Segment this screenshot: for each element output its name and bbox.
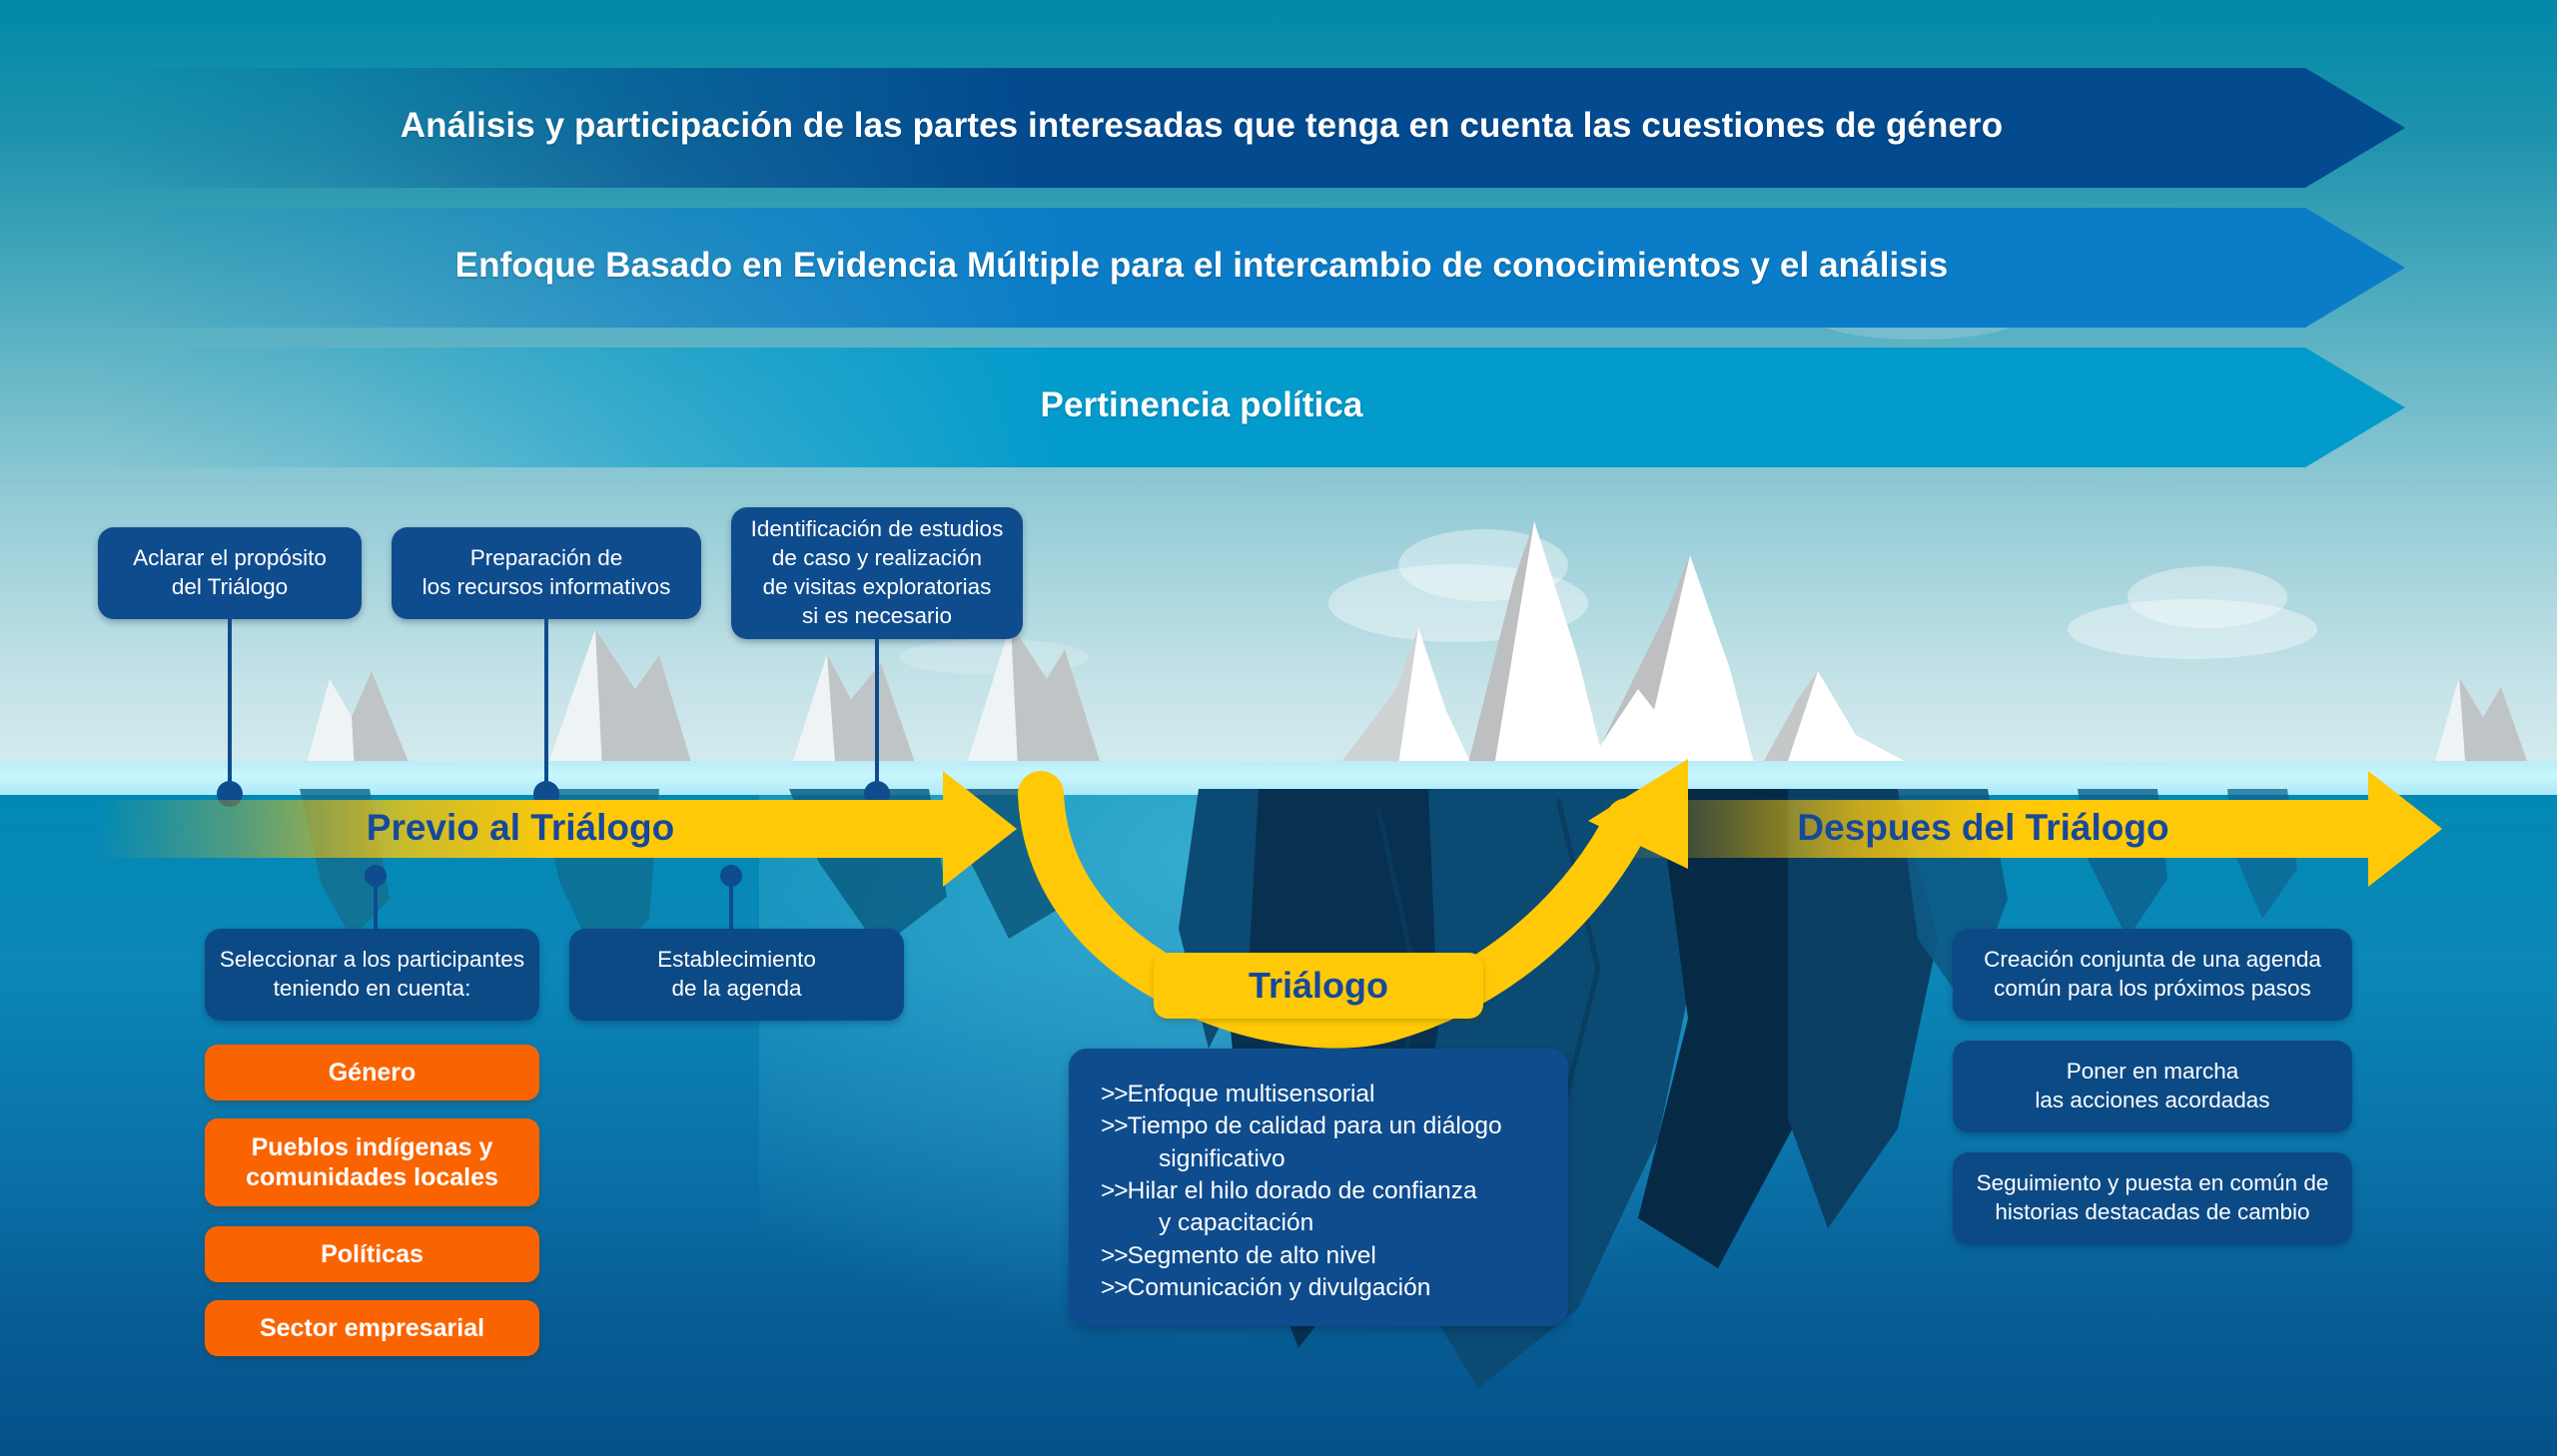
trialogue-badge-label: Triálogo xyxy=(1249,965,1388,1007)
box-line-1: Preparación de xyxy=(470,545,623,570)
connector-line xyxy=(544,619,548,789)
tag-label: Políticas xyxy=(321,1239,424,1269)
trialogue-activities-box[interactable]: >>Enfoque multisensorial >>Tiempo de cal… xyxy=(1069,1049,1568,1326)
bullet-line-1: Segmento de alto nivel xyxy=(1128,1242,1376,1269)
pre-box-clarify-purpose[interactable]: Aclarar el propósito del Triálogo xyxy=(98,527,362,619)
infographic-canvas: Análisis y participación de las partes i… xyxy=(0,0,2557,1456)
box-line-1: Establecimiento xyxy=(657,947,816,972)
bullet-marker: >> xyxy=(1101,1177,1128,1204)
box-line-1: Identificación de estudios xyxy=(751,516,1004,541)
pre-box-prepare-resources[interactable]: Preparación de los recursos informativos xyxy=(392,527,701,619)
orange-tag-policies[interactable]: Políticas xyxy=(205,1226,539,1282)
after-box-co-create-agenda[interactable]: Creación conjunta de una agenda común pa… xyxy=(1953,929,2352,1021)
pre-box-select-participants[interactable]: Seleccionar a los participantes teniendo… xyxy=(205,929,539,1021)
after-box-follow-up-stories[interactable]: Seguimiento y puesta en común de histori… xyxy=(1953,1152,2352,1244)
box-line-2: los recursos informativos xyxy=(423,574,671,599)
box-line-1: Creación conjunta de una agenda xyxy=(1984,947,2321,972)
connector-line xyxy=(228,619,232,789)
box-line-2: teniendo en cuenta: xyxy=(274,976,471,1001)
box-line-2: de la agenda xyxy=(671,976,801,1001)
list-item: >>Hilar el hilo dorado de confianza y ca… xyxy=(1101,1175,1568,1240)
bullet-line-1: Comunicación y divulgación xyxy=(1128,1274,1431,1301)
top-arrow-label: Análisis y participación de las partes i… xyxy=(98,106,2405,146)
top-arrow-label: Pertinencia política xyxy=(98,385,2405,425)
bullet-line-1: Hilar el hilo dorado de confianza xyxy=(1128,1177,1477,1204)
box-line-2: de caso y realización xyxy=(772,545,982,570)
bullet-line-2: significativo xyxy=(1159,1145,1285,1172)
tag-label: Género xyxy=(329,1058,417,1088)
bullet-marker: >> xyxy=(1101,1112,1128,1139)
box-line-1: Poner en marcha xyxy=(2067,1059,2239,1084)
bullet-marker: >> xyxy=(1101,1242,1128,1269)
phase-arrow-before-trialogue[interactable]: Previo al Triálogo xyxy=(98,771,1017,887)
pre-box-case-studies[interactable]: Identificación de estudios de caso y rea… xyxy=(731,507,1023,639)
box-line-2: historias destacadas de cambio xyxy=(1995,1199,2309,1224)
phase-arrow-label: Despues del Triálogo xyxy=(1598,807,2442,849)
top-arrow-multiple-evidence[interactable]: Enfoque Basado en Evidencia Múltiple par… xyxy=(98,208,2405,328)
box-line-1: Seguimiento y puesta en común de xyxy=(1977,1170,2329,1195)
connector-dot xyxy=(365,865,387,887)
pre-box-agenda-setting[interactable]: Establecimiento de la agenda xyxy=(569,929,904,1021)
bullet-line-2: y capacitación xyxy=(1159,1209,1313,1236)
box-line-2: las acciones acordadas xyxy=(2035,1088,2269,1112)
after-box-implement-actions[interactable]: Poner en marcha las acciones acordadas xyxy=(1953,1041,2352,1132)
tag-line-1: Pueblos indígenas y xyxy=(252,1133,493,1161)
box-line-3: de visitas exploratorias xyxy=(763,574,992,599)
box-line-2: del Triálogo xyxy=(172,574,288,599)
trialogue-badge[interactable]: Triálogo xyxy=(1154,953,1483,1019)
orange-tag-indigenous-peoples[interactable]: Pueblos indígenas y comunidades locales xyxy=(205,1118,539,1206)
box-line-4: si es necesario xyxy=(802,603,952,628)
orange-tag-business-sector[interactable]: Sector empresarial xyxy=(205,1300,539,1356)
box-line-2: común para los próximos pasos xyxy=(1994,976,2311,1001)
top-arrow-policy-relevance[interactable]: Pertinencia política xyxy=(98,348,2405,467)
phase-arrow-label: Previo al Triálogo xyxy=(98,807,1017,849)
connector-line xyxy=(875,639,879,789)
connector-dot xyxy=(720,865,742,887)
top-arrow-label: Enfoque Basado en Evidencia Múltiple par… xyxy=(98,246,2405,286)
list-item: >>Tiempo de calidad para un diálogo sign… xyxy=(1101,1110,1568,1175)
phase-arrow-after-trialogue[interactable]: Despues del Triálogo xyxy=(1598,771,2442,887)
list-item: >>Segmento de alto nivel xyxy=(1101,1240,1568,1272)
box-line-1: Seleccionar a los participantes xyxy=(220,947,524,972)
trialogue-activities-list: >>Enfoque multisensorial >>Tiempo de cal… xyxy=(1101,1079,1568,1304)
curved-dip-arrow xyxy=(989,749,1708,1079)
bullet-marker: >> xyxy=(1101,1274,1128,1301)
box-line-1: Aclarar el propósito xyxy=(133,545,327,570)
tag-label: Sector empresarial xyxy=(260,1313,484,1343)
list-item: >>Comunicación y divulgación xyxy=(1101,1272,1568,1304)
list-item: >>Enfoque multisensorial xyxy=(1101,1079,1568,1110)
top-arrow-gender-analysis[interactable]: Análisis y participación de las partes i… xyxy=(98,68,2405,188)
tag-line-2: comunidades locales xyxy=(246,1163,498,1191)
bullet-line-1: Tiempo de calidad para un diálogo xyxy=(1128,1112,1502,1139)
bullet-marker: >> xyxy=(1101,1081,1128,1107)
bullet-line-1: Enfoque multisensorial xyxy=(1128,1081,1375,1107)
main-iceberg-above-water xyxy=(1278,459,1998,779)
orange-tag-gender[interactable]: Género xyxy=(205,1045,539,1100)
